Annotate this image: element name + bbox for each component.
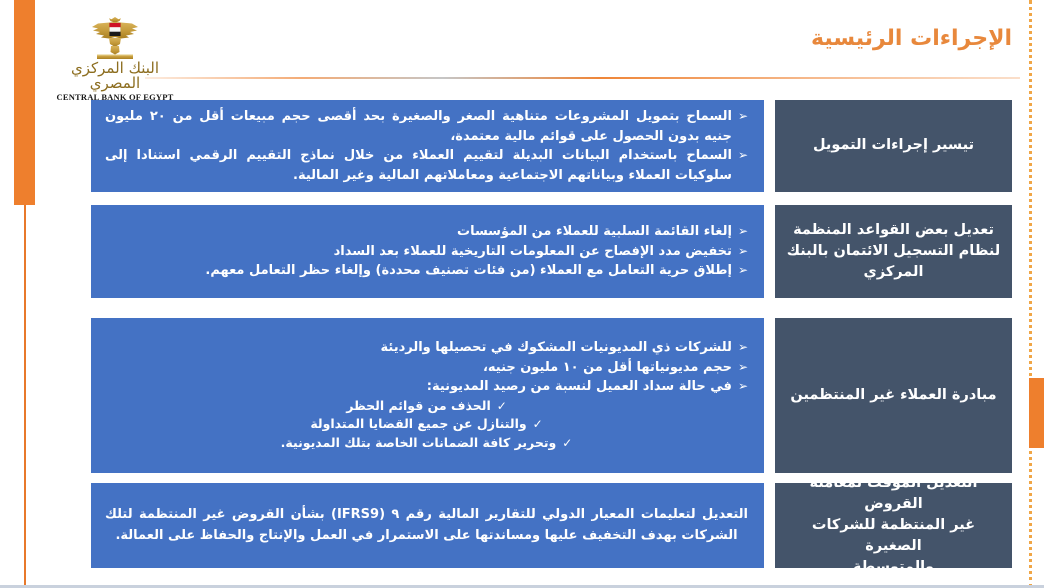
right-accent-block bbox=[1029, 378, 1044, 448]
eagle-emblem-icon bbox=[88, 16, 142, 60]
page-title: الإجراءات الرئيسية bbox=[811, 26, 1012, 51]
category-label-2: تعديل بعض القواعد المنظمةلنظام التسجيل ا… bbox=[775, 205, 1012, 298]
right-dotted-divider bbox=[1029, 0, 1032, 588]
category-label-4: التعديل المؤقت لمعاملة القروضغير المنتظم… bbox=[775, 483, 1012, 568]
bullet-text: الحذف من قوائم الحظر bbox=[346, 397, 491, 416]
bullet-text: حجم مديونياتها أقل من ١٠ مليون جنيه، bbox=[105, 358, 732, 378]
label-line: المركزي bbox=[787, 262, 1000, 283]
bullet-text: إلغاء القائمة السلبية للعملاء من المؤسسا… bbox=[105, 222, 732, 242]
bullet-item: ➢تخفيض مدد الإفصاح عن المعلومات التاريخي… bbox=[105, 242, 748, 262]
content-box-1: ➢السماح بتمويل المشروعات متناهية الصغر و… bbox=[91, 100, 764, 192]
label-line: تيسير إجراءات التمويل bbox=[813, 135, 974, 156]
bullet-item: ✓وتحرير كافة الضمانات الخاصة بتلك المديو… bbox=[105, 434, 748, 453]
central-bank-logo: البنك المركزي المصري CENTRAL BANK OF EGY… bbox=[55, 16, 175, 86]
label-line: تعديل بعض القواعد المنظمة bbox=[787, 220, 1000, 241]
bullet-text: للشركات ذي المديونيات المشكوك في تحصيلها… bbox=[105, 338, 732, 358]
bullet-item: ✓والتنازل عن جميع القضايا المتداولة bbox=[105, 415, 748, 434]
bullet-text: السماح بتمويل المشروعات متناهية الصغر وا… bbox=[105, 107, 732, 146]
arrow-bullet-icon: ➢ bbox=[738, 242, 748, 260]
bullet-text: إطلاق حرية التعامل مع العملاء (من فئات ت… bbox=[105, 261, 732, 281]
label-line: مبادرة العملاء غير المنتظمين bbox=[790, 385, 996, 406]
bullet-text: في حالة سداد العميل لنسبة من رصيد المديو… bbox=[105, 377, 732, 397]
bullet-item: ➢إلغاء القائمة السلبية للعملاء من المؤسس… bbox=[105, 222, 748, 242]
category-label-text: مبادرة العملاء غير المنتظمين bbox=[790, 385, 996, 406]
category-label-1: تيسير إجراءات التمويل bbox=[775, 100, 1012, 192]
bullet-text: وتحرير كافة الضمانات الخاصة بتلك المديون… bbox=[281, 434, 557, 453]
arrow-bullet-icon: ➢ bbox=[738, 358, 748, 376]
category-label-text: تعديل بعض القواعد المنظمةلنظام التسجيل ا… bbox=[787, 220, 1000, 283]
bullet-item: ➢في حالة سداد العميل لنسبة من رصيد المدي… bbox=[105, 377, 748, 397]
category-label-text: التعديل المؤقت لمعاملة القروضغير المنتظم… bbox=[783, 473, 1004, 578]
bullet-item: ➢للشركات ذي المديونيات المشكوك في تحصيله… bbox=[105, 338, 748, 358]
label-line: والمتوسطة bbox=[783, 557, 1004, 578]
check-icon: ✓ bbox=[562, 434, 572, 452]
label-line: لنظام التسجيل الائتمان بالبنك bbox=[787, 241, 1000, 262]
label-line: غير المنتظمة للشركات الصغيرة bbox=[783, 515, 1004, 557]
bullet-item: ➢حجم مديونياتها أقل من ١٠ مليون جنيه، bbox=[105, 358, 748, 378]
bullet-item: ✓الحذف من قوائم الحظر bbox=[105, 397, 748, 416]
check-icon: ✓ bbox=[533, 415, 543, 433]
bullet-text: والتنازل عن جميع القضايا المتداولة bbox=[310, 415, 526, 434]
check-icon: ✓ bbox=[497, 397, 507, 415]
arrow-bullet-icon: ➢ bbox=[738, 107, 748, 125]
bullet-text: تخفيض مدد الإفصاح عن المعلومات التاريخية… bbox=[105, 242, 732, 262]
content-box-3: ➢للشركات ذي المديونيات المشكوك في تحصيله… bbox=[91, 318, 764, 473]
arrow-bullet-icon: ➢ bbox=[738, 222, 748, 240]
logo-arabic-name: البنك المركزي المصري bbox=[55, 61, 175, 91]
bullet-item: ➢السماح باستخدام البيانات البديلة لتقييم… bbox=[105, 146, 748, 185]
left-accent-line bbox=[24, 205, 26, 588]
slide-canvas: البنك المركزي المصري CENTRAL BANK OF EGY… bbox=[0, 0, 1044, 588]
bullet-text: السماح باستخدام البيانات البديلة لتقييم … bbox=[105, 146, 732, 185]
arrow-bullet-icon: ➢ bbox=[738, 338, 748, 356]
header-divider-rule bbox=[145, 77, 1020, 79]
content-box-4: التعديل لتعليمات المعيار الدولي للتقارير… bbox=[91, 483, 764, 568]
arrow-bullet-icon: ➢ bbox=[738, 377, 748, 395]
arrow-bullet-icon: ➢ bbox=[738, 261, 748, 279]
label-line: التعديل المؤقت لمعاملة القروض bbox=[783, 473, 1004, 515]
content-box-2: ➢إلغاء القائمة السلبية للعملاء من المؤسس… bbox=[91, 205, 764, 298]
arrow-bullet-icon: ➢ bbox=[738, 146, 748, 164]
category-label-text: تيسير إجراءات التمويل bbox=[813, 135, 974, 156]
category-label-3: مبادرة العملاء غير المنتظمين bbox=[775, 318, 1012, 473]
content-paragraph: التعديل لتعليمات المعيار الدولي للتقارير… bbox=[105, 505, 748, 547]
bullet-item: ➢السماح بتمويل المشروعات متناهية الصغر و… bbox=[105, 107, 748, 146]
left-accent-bar bbox=[14, 0, 35, 205]
bullet-item: ➢إطلاق حرية التعامل مع العملاء (من فئات … bbox=[105, 261, 748, 281]
